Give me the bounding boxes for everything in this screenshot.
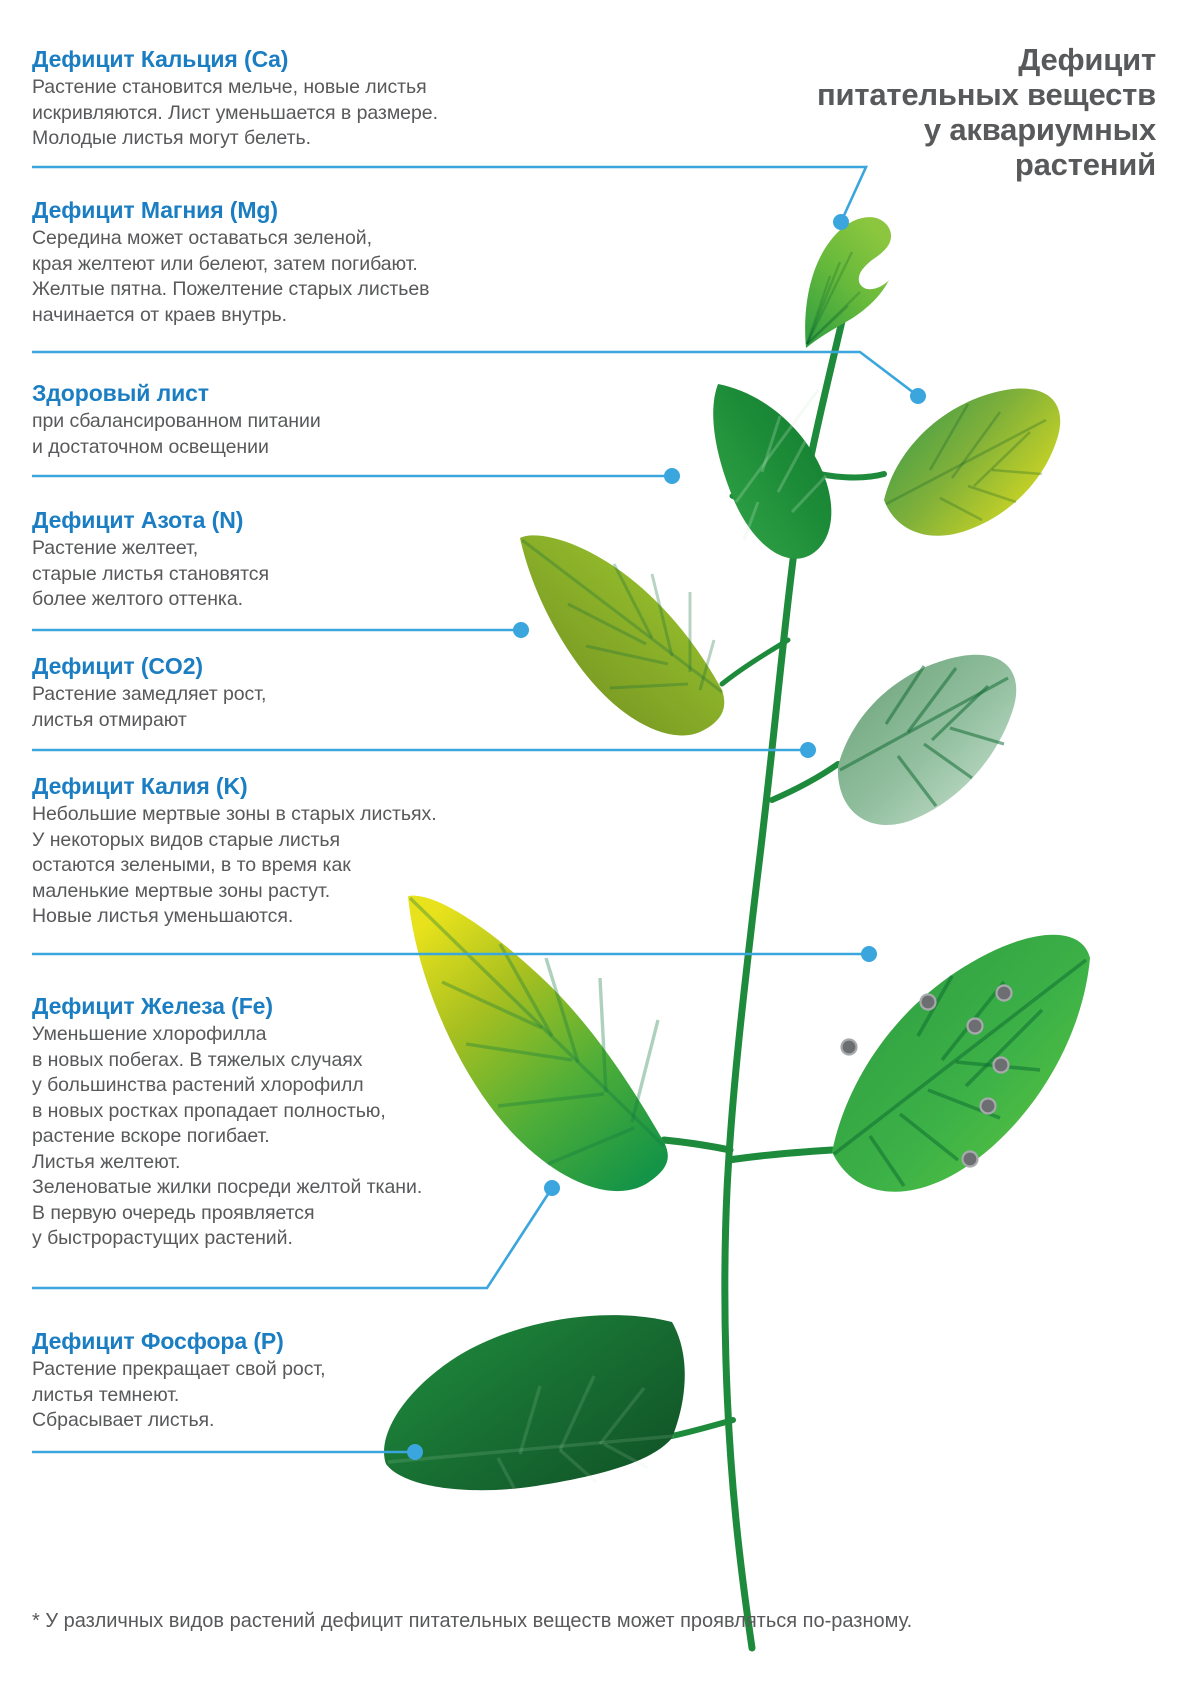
body-magnesium: Середина может оставаться зеленой, края … — [32, 226, 430, 328]
body-healthy: при сбалансированном питании и достаточн… — [32, 409, 321, 460]
body-iron: Уменьшение хлорофилла в новых побегах. В… — [32, 1022, 422, 1252]
title-line-2: питательных веществ — [636, 77, 1156, 112]
info-block-calcium: Дефицит Кальция (Ca) Растение становится… — [32, 46, 438, 152]
heading-co2: Дефицит (CO2) — [32, 653, 266, 679]
heading-iron: Дефицит Железа (Fe) — [32, 993, 422, 1019]
body-nitrogen: Растение желтеет, старые листья становят… — [32, 536, 269, 613]
body-phosphorus: Растение прекращает свой рост, листья те… — [32, 1357, 326, 1434]
heading-phosphorus: Дефицит Фосфора (P) — [32, 1328, 326, 1354]
footnote: * У различных видов растений дефицит пит… — [32, 1608, 912, 1634]
info-block-healthy: Здоровый лист при сбалансированном питан… — [32, 380, 321, 460]
page-title: Дефицит питательных веществ у аквариумны… — [636, 42, 1156, 182]
body-co2: Растение замедляет рост, листья отмирают — [32, 682, 266, 733]
title-line-4: растений — [636, 147, 1156, 182]
info-block-potassium: Дефицит Калия (K) Небольшие мертвые зоны… — [32, 773, 437, 930]
heading-calcium: Дефицит Кальция (Ca) — [32, 46, 438, 72]
heading-magnesium: Дефицит Магния (Mg) — [32, 197, 430, 223]
info-block-iron: Дефицит Железа (Fe) Уменьшение хлорофилл… — [32, 993, 422, 1252]
title-line-1: Дефицит — [636, 42, 1156, 77]
heading-healthy: Здоровый лист — [32, 380, 321, 406]
title-line-3: у аквариумных — [636, 112, 1156, 147]
body-calcium: Растение становится мельче, новые листья… — [32, 75, 438, 152]
info-block-co2: Дефицит (CO2) Растение замедляет рост, л… — [32, 653, 266, 733]
info-block-nitrogen: Дефицит Азота (N) Растение желтеет, стар… — [32, 507, 269, 613]
heading-nitrogen: Дефицит Азота (N) — [32, 507, 269, 533]
info-block-magnesium: Дефицит Магния (Mg) Середина может остав… — [32, 197, 430, 328]
info-block-phosphorus: Дефицит Фосфора (P) Растение прекращает … — [32, 1328, 326, 1434]
infographic-poster: Дефицит питательных веществ у аквариумны… — [0, 0, 1190, 1684]
body-potassium: Небольшие мертвые зоны в старых листьях.… — [32, 802, 437, 930]
heading-potassium: Дефицит Калия (K) — [32, 773, 437, 799]
